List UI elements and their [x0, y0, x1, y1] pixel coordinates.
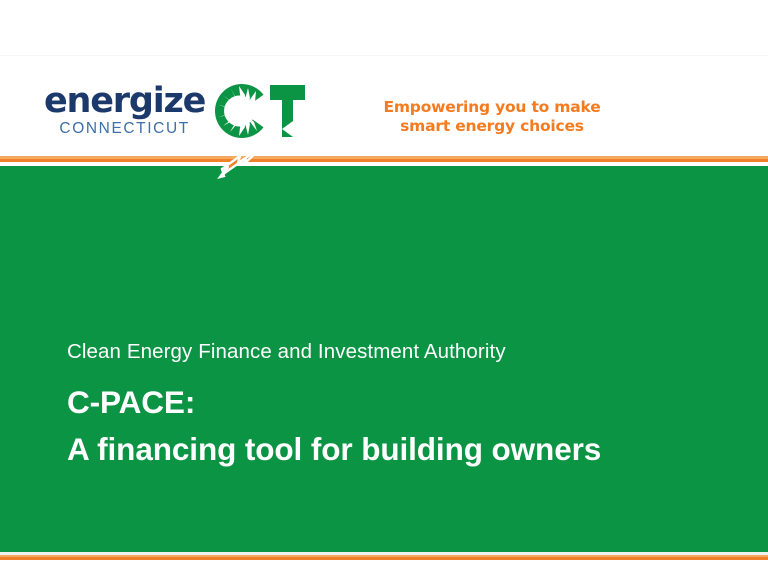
- slide-title-line-2: A financing tool for building owners: [67, 426, 601, 473]
- brand-tagline: Empowering you to make smart energy choi…: [372, 98, 612, 136]
- logo-energize-wordmark: energize: [44, 84, 205, 118]
- logo-ct-monogram: [214, 83, 306, 139]
- slide-title-line-1: C-PACE:: [67, 379, 601, 426]
- footer-white-band: [0, 560, 768, 576]
- lightning-bolt-icon: [214, 143, 270, 181]
- presentation-slide: energize CONNECTICUT: [0, 0, 768, 576]
- tagline-line-2: smart energy choices: [372, 117, 612, 136]
- energize-ct-logo: energize CONNECTICUT: [44, 82, 306, 139]
- slide-title: C-PACE: A financing tool for building ow…: [67, 379, 601, 474]
- logo-connecticut-wordmark: CONNECTICUT: [59, 120, 189, 138]
- starburst-c-icon: [214, 83, 306, 139]
- slide-eyebrow-text: Clean Energy Finance and Investment Auth…: [67, 340, 506, 364]
- logo-wordmark-group: energize CONNECTICUT: [44, 82, 205, 138]
- tagline-line-1: Empowering you to make: [372, 98, 612, 117]
